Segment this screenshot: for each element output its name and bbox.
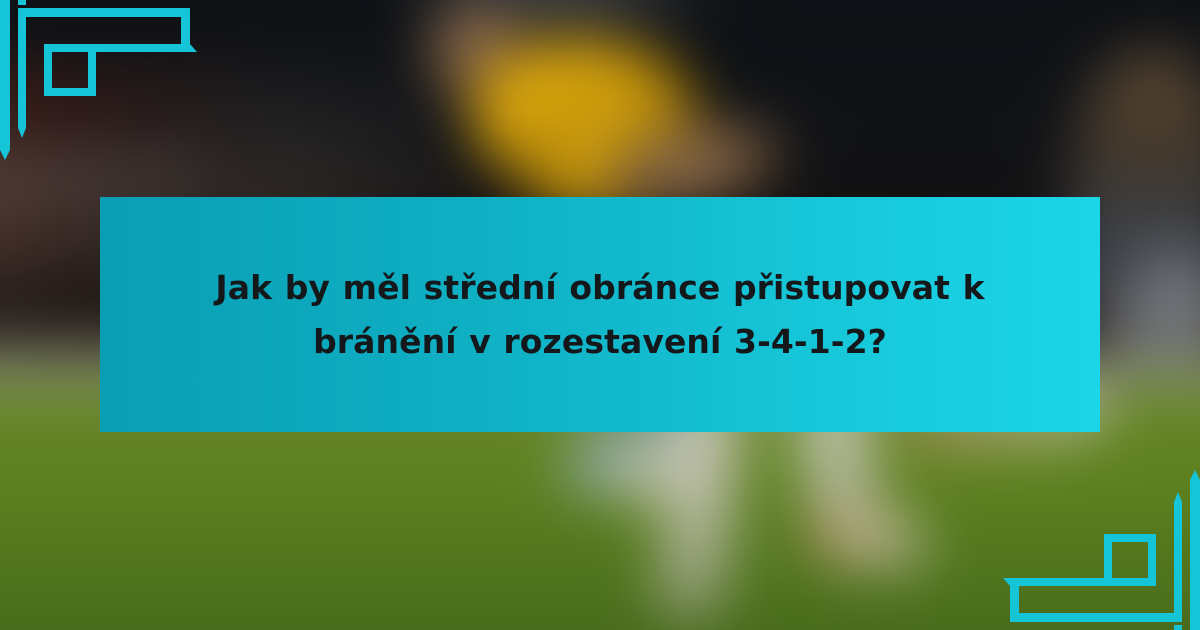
headline-banner: Jak by měl střední obránce přistupovat k… <box>100 197 1100 432</box>
social-share-card: Jak by měl střední obránce přistupovat k… <box>0 0 1200 630</box>
page-title: Jak by měl střední obránce přistupovat k… <box>215 261 984 368</box>
page-title-line-1: Jak by měl střední obránce přistupovat k <box>215 268 984 307</box>
page-title-line-2: bránění v rozestavení 3-4-1-2? <box>313 322 887 361</box>
